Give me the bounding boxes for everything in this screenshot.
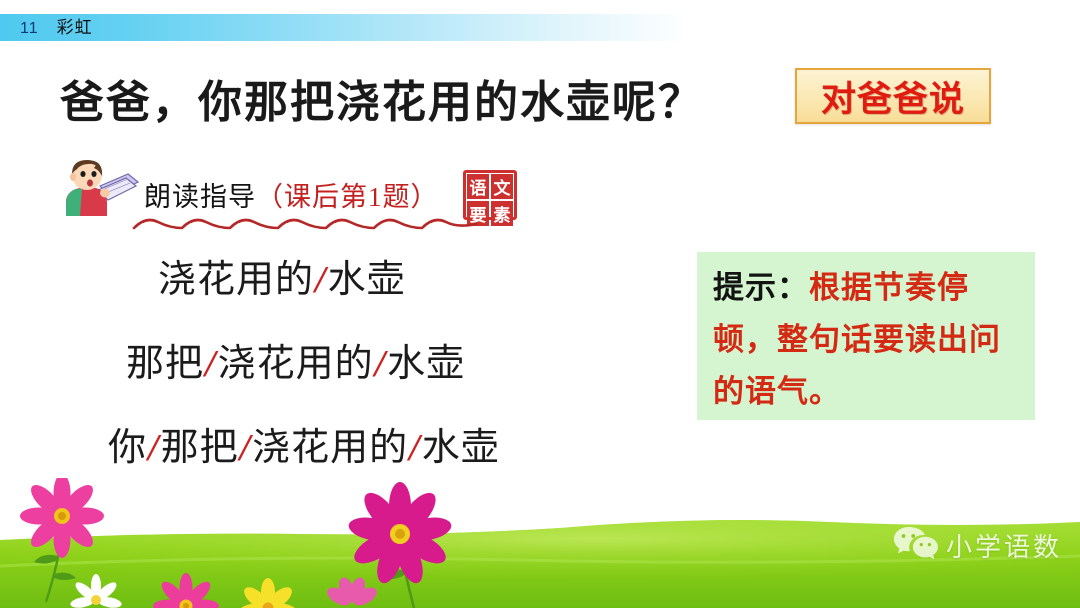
hint-box: 提示：根据节奏停顿，整句话要读出问的语气。 xyxy=(697,252,1035,420)
rhythm-segment: 水壶 xyxy=(387,343,465,385)
rhythm-segment: 那把 xyxy=(161,427,239,469)
speak-to-dad-badge: 对爸爸说 xyxy=(795,68,991,124)
rhythm-line-1: 浇花用的/水壶 xyxy=(158,252,640,309)
rhythm-slash: / xyxy=(408,427,422,469)
wavy-underline-decoration xyxy=(132,214,484,234)
header-bar xyxy=(0,14,690,41)
rhythm-slash: / xyxy=(204,343,218,385)
rhythm-segment: 水壶 xyxy=(422,427,500,469)
rhythm-slash: / xyxy=(239,427,253,469)
rhythm-segment: 你 xyxy=(108,427,147,469)
guide-label-main: 朗读指导 xyxy=(144,182,256,212)
rhythm-lines: 浇花用的/水壶 那把/浇花用的/水壶 你/那把/浇花用的/水壶 xyxy=(0,252,640,477)
guide-label-ref: （课后第1题） xyxy=(256,182,439,212)
reading-guide-label: 朗读指导（课后第1题） xyxy=(144,175,439,214)
rhythm-segment: 浇花用的 xyxy=(252,427,408,469)
bottom-scenery xyxy=(0,478,1080,608)
lesson-title: 彩虹 xyxy=(57,18,93,37)
slide-canvas: 11彩虹 爸爸，你那把浇花用的水壶呢？ 对爸爸说 xyxy=(0,0,1080,608)
seal-char-4: 素 xyxy=(491,201,513,226)
rhythm-slash: / xyxy=(314,259,328,301)
seal-char-1: 语 xyxy=(467,174,489,199)
badge-label: 对爸爸说 xyxy=(821,71,965,122)
child-reading-icon xyxy=(58,158,142,218)
lesson-number: 11 xyxy=(20,20,39,37)
seal-char-2: 文 xyxy=(491,174,513,199)
main-sentence: 爸爸，你那把浇花用的水壶呢？ xyxy=(60,66,704,130)
hint-label: 提示： xyxy=(713,270,809,305)
rhythm-slash: / xyxy=(374,343,388,385)
rhythm-line-3: 你/那把/浇花用的/水壶 xyxy=(108,420,640,477)
header-text: 11彩虹 xyxy=(20,14,93,41)
rhythm-segment: 浇花用的 xyxy=(158,259,314,301)
hint-text: 提示：根据节奏停顿，整句话要读出问的语气。 xyxy=(713,262,1021,418)
yuwen-yaosu-seal: 语 文 要 素 xyxy=(463,170,517,220)
rhythm-line-2: 那把/浇花用的/水壶 xyxy=(126,336,640,393)
rhythm-segment: 那把 xyxy=(126,343,204,385)
rhythm-segment: 浇花用的 xyxy=(218,343,374,385)
reading-guide-row: 朗读指导（课后第1题） xyxy=(58,160,439,218)
rhythm-slash: / xyxy=(147,427,161,469)
rhythm-segment: 水壶 xyxy=(328,259,406,301)
